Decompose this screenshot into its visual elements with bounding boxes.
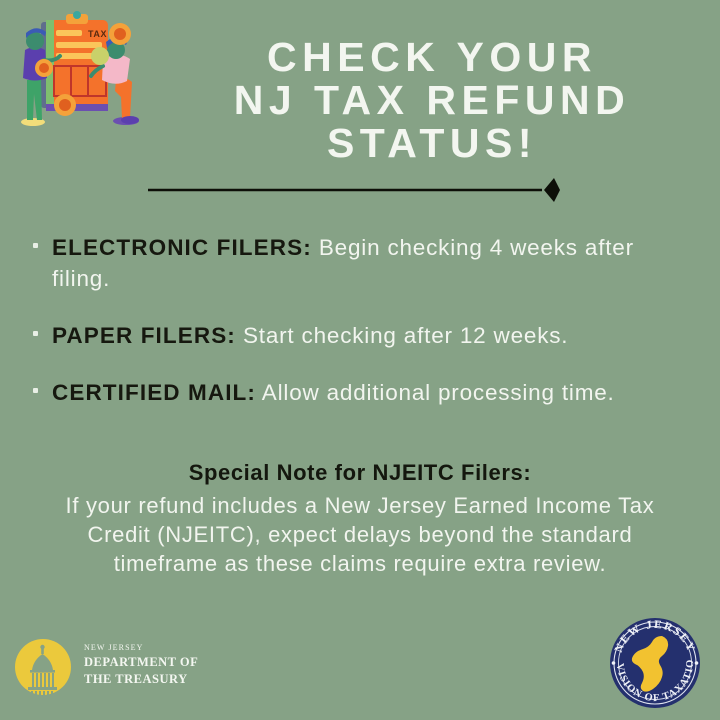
title-line-3: STATUS! [152,122,712,165]
bullet-text: CERTIFIED MAIL: Allow additional process… [52,377,690,408]
bullet-dot-icon [33,388,38,393]
title-line-2: NJ TAX REFUND [152,79,712,122]
bullet-list: ELECTRONIC FILERS: Begin checking 4 week… [30,232,690,434]
sparkle-star-icon [544,178,560,202]
title-line-1: CHECK YOUR [152,36,712,79]
bullet-dot-icon [33,331,38,336]
bullet-body: Allow additional processing time. [256,380,615,405]
bullet-body: Start checking after 12 weeks. [236,323,568,348]
taxation-seal-svg: NEW JERSEY DIVISION OF TAXATION [604,612,706,714]
division-of-taxation-seal: NEW JERSEY DIVISION OF TAXATION [604,612,706,714]
special-note: Special Note for NJEITC Filers: If your … [40,458,680,578]
treasury-eyebrow: NEW JERSEY [84,642,224,654]
poster-canvas: TAX [0,0,720,720]
list-item: PAPER FILERS: Start checking after 12 we… [30,320,690,351]
capitol-dome-icon [12,636,74,698]
bullet-text: ELECTRONIC FILERS: Begin checking 4 week… [52,232,690,294]
divider-rule [148,176,560,204]
tax-illustration-svg: TAX [8,8,168,136]
bullet-dot-icon [33,243,38,248]
bullet-lead: ELECTRONIC FILERS: [52,235,312,260]
special-note-body: If your refund includes a New Jersey Ear… [40,491,680,578]
divider-svg [148,176,560,204]
page-title: CHECK YOUR NJ TAX REFUND STATUS! [152,36,712,165]
bullet-text: PAPER FILERS: Start checking after 12 we… [52,320,690,351]
treasury-line-1: DEPARTMENT OF [84,654,224,671]
list-item: ELECTRONIC FILERS: Begin checking 4 week… [30,232,690,294]
treasury-line-2: THE TREASURY [84,671,224,688]
bullet-lead: PAPER FILERS: [52,323,236,348]
treasury-wordmark: NEW JERSEY DEPARTMENT OF THE TREASURY [84,642,224,688]
capitol-dome-svg [12,636,74,698]
special-note-heading: Special Note for NJEITC Filers: [40,458,680,487]
bullet-lead: CERTIFIED MAIL: [52,380,256,405]
tax-illustration: TAX [8,8,168,136]
list-item: CERTIFIED MAIL: Allow additional process… [30,377,690,408]
svg-text:TAX: TAX [88,29,107,39]
treasury-logo: NEW JERSEY DEPARTMENT OF THE TREASURY [12,634,222,706]
